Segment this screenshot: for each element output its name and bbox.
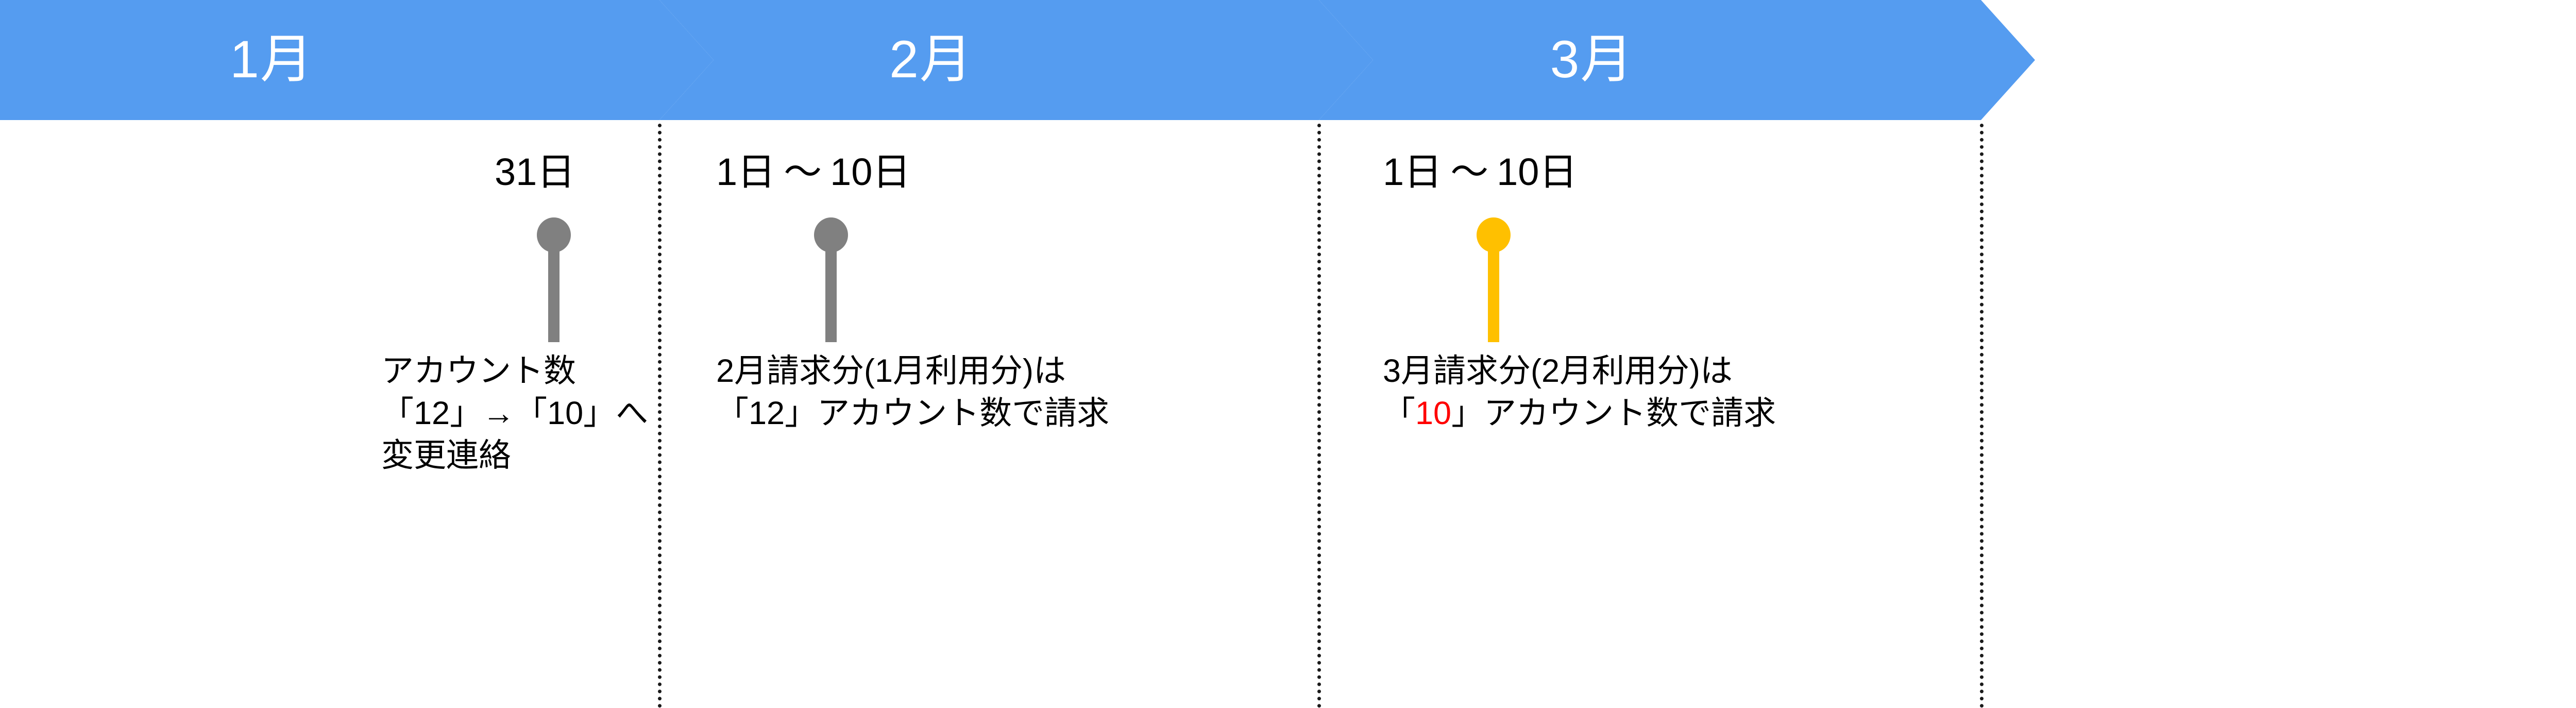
divider-mar-end — [1980, 124, 1984, 708]
date-label-february: 1日～10日 — [716, 153, 910, 191]
account-count-highlight: 10 — [1415, 395, 1451, 431]
note-january-line-3: 変更連絡 — [381, 435, 648, 477]
note-january-line-1: アカウント数 — [381, 350, 648, 393]
divider-feb-mar — [1317, 124, 1321, 708]
note-january: アカウント数 「12」→「10」へ 変更連絡 — [381, 350, 648, 477]
month-chevron-february[interactable]: 2月 — [659, 0, 1373, 120]
month-label-february: 2月 — [889, 33, 973, 86]
month-label-january: 1月 — [230, 33, 314, 86]
note-january-line-2: 「12」→「10」へ — [381, 393, 648, 435]
date-from-february: 1日 — [716, 150, 775, 193]
month-label-march: 3月 — [1550, 33, 1634, 86]
note-february-line-1: 2月請求分(1月利用分)は — [716, 350, 1109, 393]
note-march-line-1: 3月請求分(2月利用分)は — [1383, 350, 1776, 393]
date-from-january: 31日 — [495, 150, 575, 193]
date-label-march: 1日～10日 — [1383, 153, 1577, 191]
note-february: 2月請求分(1月利用分)は 「12」アカウント数で請求 — [716, 350, 1109, 435]
pin-stem-icon — [548, 248, 560, 342]
pin-head-icon — [537, 217, 571, 252]
divider-jan-feb — [658, 124, 662, 708]
note-march: 3月請求分(2月利用分)は 「10」アカウント数で請求 — [1383, 350, 1776, 435]
pin-stem-icon — [825, 248, 837, 342]
date-to-february: 10日 — [830, 150, 910, 193]
month-chevron-band: 1月 2月 3月 — [0, 0, 2576, 120]
date-range-tilde-february: ～ — [775, 153, 830, 191]
note-march-line-2-pre: 「 — [1383, 395, 1415, 431]
pin-stem-icon — [1488, 248, 1499, 342]
date-label-january: 31日 — [495, 153, 575, 191]
date-to-march: 10日 — [1497, 150, 1577, 193]
note-march-line-2-post: 」アカウント数で請求 — [1451, 395, 1776, 431]
pin-head-icon — [814, 217, 848, 252]
date-range-tilde-march: ～ — [1442, 153, 1497, 191]
note-february-line-2: 「12」アカウント数で請求 — [716, 393, 1109, 435]
note-march-line-2: 「10」アカウント数で請求 — [1383, 393, 1776, 435]
timeline-diagram: 1月 2月 3月 31日 アカウント数 「12」→「10」へ 変更連絡 1日～1… — [0, 0, 2576, 708]
month-chevron-march[interactable]: 3月 — [1319, 0, 2035, 120]
pin-head-icon — [1477, 217, 1511, 252]
date-from-march: 1日 — [1383, 150, 1442, 193]
month-chevron-january[interactable]: 1月 — [0, 0, 714, 120]
